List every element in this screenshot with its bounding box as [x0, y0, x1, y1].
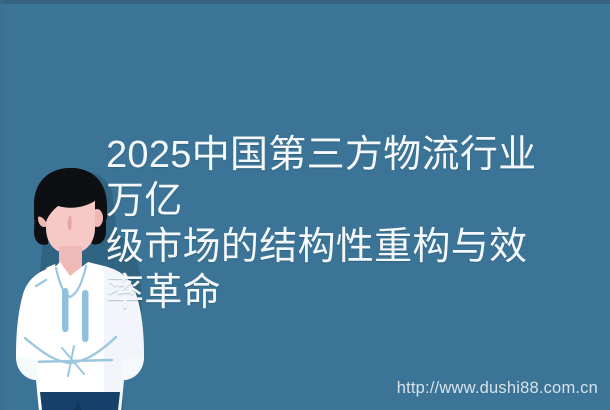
drawstring-left [62, 288, 69, 332]
top-edge-band [0, 0, 610, 4]
cuff-left [16, 356, 38, 380]
page-title: 2025中国第三方物流行业万亿 级市场的结构性重构与效率革命 [106, 132, 558, 316]
drawstring-right [82, 290, 89, 342]
poster-canvas: 2025中国第三方物流行业万亿 级市场的结构性重构与效率革命 http://ww… [0, 0, 610, 410]
cuff-right [122, 356, 144, 380]
site-url-watermark: http://www.dushi88.com.cn [397, 379, 598, 397]
